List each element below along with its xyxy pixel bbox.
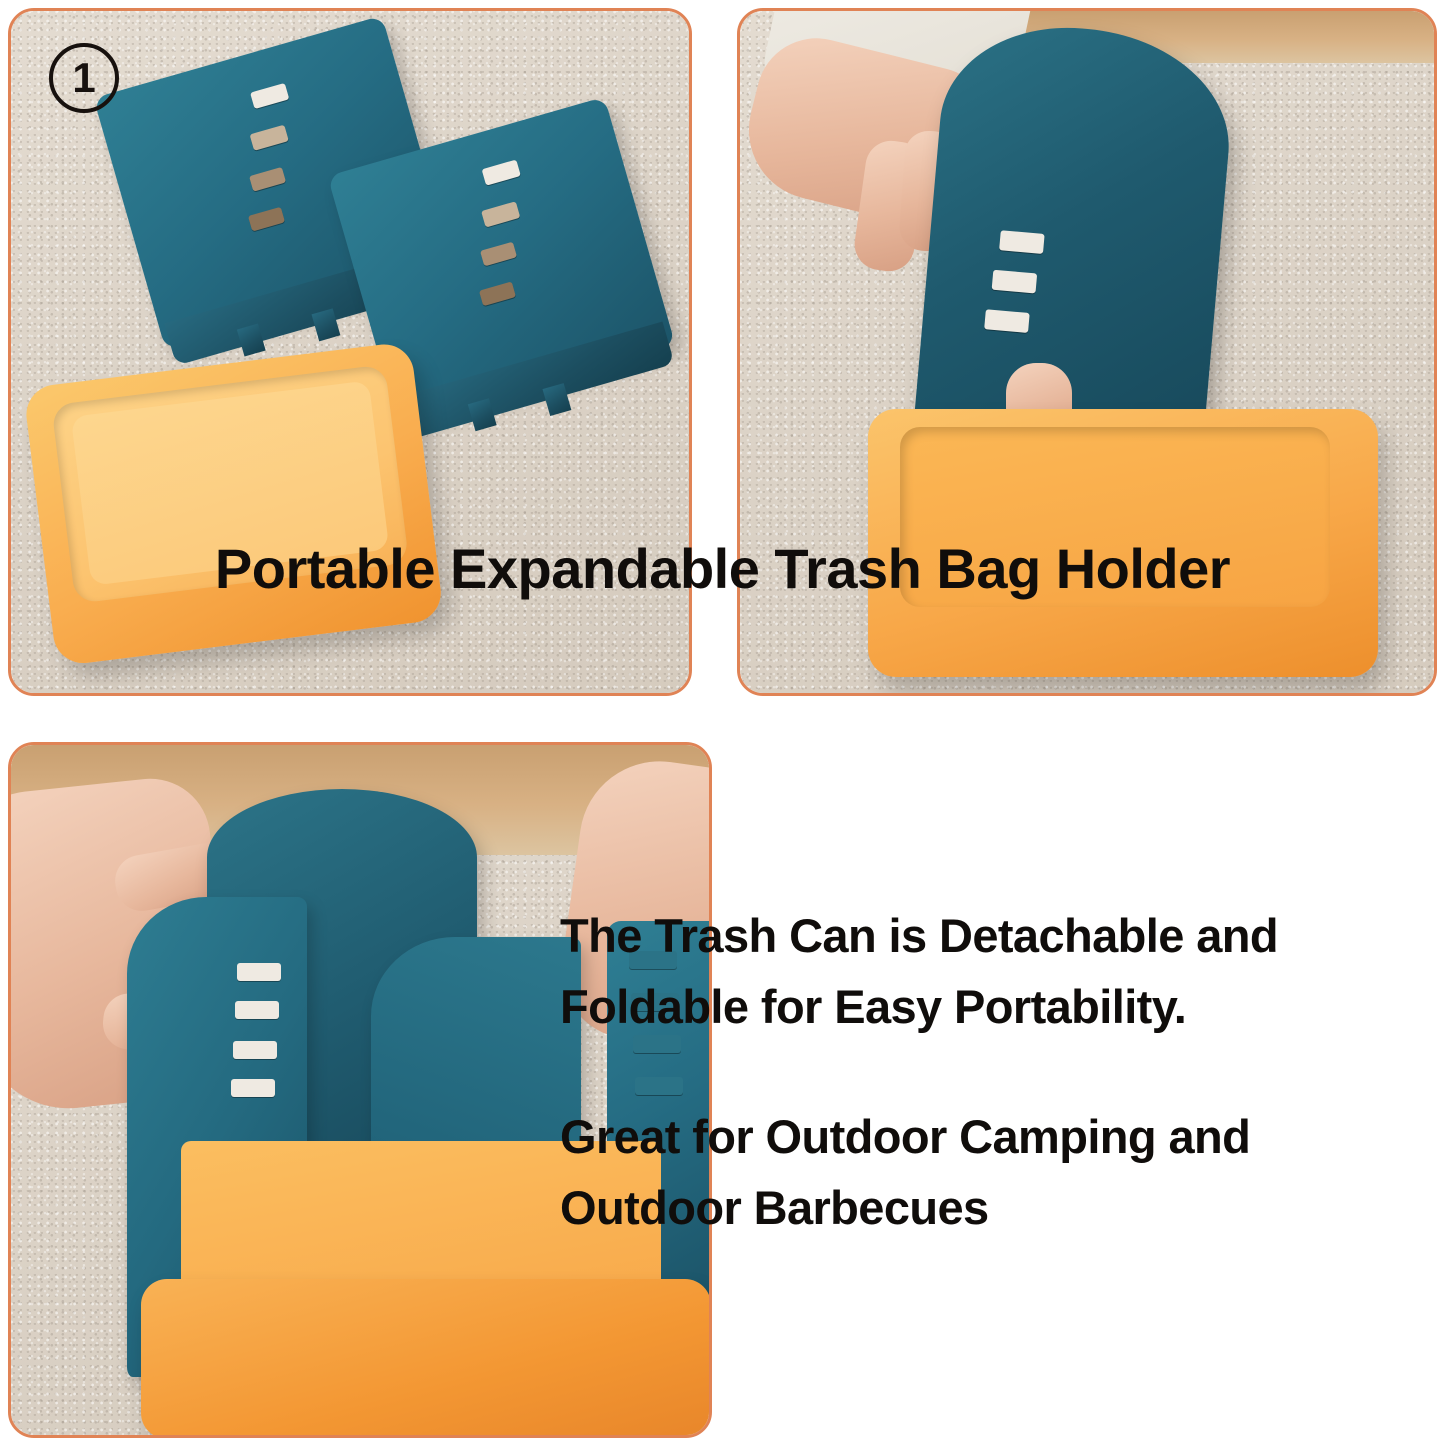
feature-blurb: The Trash Can is Detachable and Foldable… <box>560 900 1440 1244</box>
slot <box>999 230 1045 254</box>
slot <box>231 1079 275 1097</box>
page-title: Portable Expandable Trash Bag Holder <box>0 536 1445 601</box>
blurb-line-3: Great for Outdoor Camping and <box>560 1101 1440 1172</box>
blurb-line-1: The Trash Can is Detachable and <box>560 900 1440 971</box>
blurb-spacer <box>560 1043 1440 1101</box>
blurb-line-4: Outdoor Barbecues <box>560 1172 1440 1243</box>
orange-base-tray <box>23 340 459 693</box>
blurb-line-2: Foldable for Easy Portability. <box>560 971 1440 1042</box>
slot <box>235 1001 279 1019</box>
slot <box>237 963 281 981</box>
slot <box>233 1041 277 1059</box>
slot <box>984 309 1030 333</box>
infographic-page: 1 <box>0 0 1445 1445</box>
step-badge-1: 1 <box>49 43 119 113</box>
slot <box>992 270 1038 294</box>
